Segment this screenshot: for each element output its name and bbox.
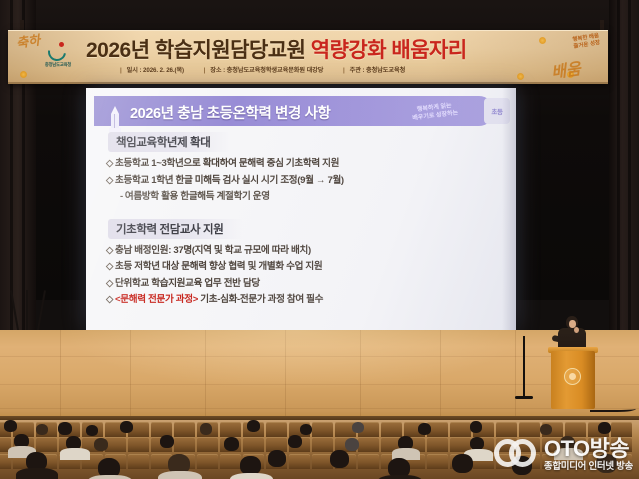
bullet-text: 충남 배정인원: 37명(지역 및 학교 규모에 따라 배치) bbox=[115, 245, 311, 256]
audience-head bbox=[345, 438, 359, 451]
presenter-hand bbox=[574, 327, 579, 333]
banner-scribble-left: 축하 bbox=[15, 30, 41, 52]
slide-section-tab: 초등 bbox=[484, 98, 510, 124]
stage-curtain-right bbox=[609, 0, 639, 330]
logo-label: 충청남도교육청 bbox=[41, 62, 75, 68]
audience-head bbox=[288, 435, 302, 448]
bullet-marker: - bbox=[120, 191, 123, 202]
bullet-text: 단위학교 학습지원교육 업무 전반 담당 bbox=[115, 278, 260, 289]
banner-scribble-right: 배움 bbox=[549, 55, 582, 83]
broadcaster-watermark: OTO방송 종합미디어 인터넷 방송 bbox=[494, 438, 633, 472]
audience-head bbox=[160, 435, 174, 448]
bullet-subitem: -여름방학 활용 한글해득 계절학기 운영 bbox=[120, 188, 516, 202]
bullet-item: ◇초등학교 1~3학년으로 확대하여 문해력 중심 기초학력 지원 bbox=[106, 155, 516, 169]
banner-title: 2026년 학습지원담당교원 역량강화 배움자리 bbox=[86, 34, 467, 64]
audience-head bbox=[598, 422, 611, 434]
audience-head bbox=[36, 424, 48, 435]
banner-title-plain: 2026년 학습지원담당교원 bbox=[86, 39, 311, 62]
podium-emblem bbox=[564, 368, 581, 385]
audience-shoulders bbox=[378, 475, 422, 479]
bullet-text: 기초-심화-전문가 과정 참여 필수 bbox=[198, 294, 323, 305]
bullet-item: ◇단위학교 학습지원교육 업무 전반 담당 bbox=[106, 275, 516, 289]
bullet-item: ◇초등학교 1학년 한글 미해득 검사 실시 시기 조정(9월 → 7월) bbox=[106, 172, 516, 186]
projection-screen: 2026년 충남 초등온학력 변경 사항 행복하게 읽는 배우기로 성장하는 초… bbox=[86, 88, 516, 330]
auditorium-photo: 축하 충청남도교육청 2026년 학습지원담당교원 역량강화 배움자리 |일시 … bbox=[0, 0, 639, 479]
bullet-marker: ◇ bbox=[106, 158, 113, 169]
bullet-item: ◇충남 배정인원: 37명(지역 및 학교 규모에 따라 배치) bbox=[106, 242, 516, 256]
audience-head bbox=[86, 425, 98, 436]
banner-subtitle-place: 장소 : 충청남도교육청학생교육문화원 대강당 bbox=[210, 67, 323, 74]
audience-head bbox=[540, 424, 552, 435]
banner-subtitle: |일시 : 2026. 2. 26.(목) |장소 : 충청남도교육청학생교육문… bbox=[120, 65, 423, 74]
slide-title: 2026년 충남 초등온학력 변경 사항 bbox=[130, 102, 330, 123]
watermark-tagline: 종합미디어 인터넷 방송 bbox=[544, 462, 633, 472]
audience-head bbox=[300, 424, 312, 435]
bullet-marker: ◇ bbox=[106, 278, 113, 289]
watermark-brand: OTO방송 bbox=[544, 438, 633, 460]
audience-head bbox=[470, 421, 482, 433]
banner-title-highlight: 역량강화 배움자리 bbox=[311, 39, 467, 62]
section-heading: 기초학력 전담교사 지원 bbox=[108, 219, 243, 239]
audience-shoulders bbox=[230, 473, 273, 479]
double-ring-icon bbox=[494, 439, 538, 469]
audience-shoulders bbox=[16, 468, 58, 479]
microphone-stand bbox=[523, 336, 525, 398]
bullet-marker: ◇ bbox=[106, 245, 113, 256]
bullet-text: 여름방학 활용 한글해득 계절학기 운영 bbox=[125, 191, 270, 202]
audience-head bbox=[200, 423, 212, 435]
bullet-text-highlight: <문해력 전문가 과정> bbox=[115, 294, 198, 305]
audience-head bbox=[352, 422, 364, 433]
audience-head bbox=[418, 423, 431, 435]
audience-head bbox=[58, 422, 72, 435]
slide-hand-note: 행복하게 읽는 배우기로 성장하는 bbox=[411, 102, 458, 123]
audience-shoulders bbox=[60, 448, 90, 460]
event-banner: 축하 충청남도교육청 2026년 학습지원담당교원 역량강화 배움자리 |일시 … bbox=[8, 30, 608, 84]
audience-head bbox=[268, 450, 286, 467]
bullet-text: 초등학교 1학년 한글 미해득 검사 실시 시기 조정(9월 → 7월) bbox=[115, 175, 344, 186]
audience-head bbox=[4, 420, 17, 432]
banner-subtitle-host: 주관 : 충청남도교육청 bbox=[350, 67, 406, 74]
audience-head bbox=[330, 450, 349, 468]
bullet-text: 초등 저학년 대상 문해력 향상 협력 및 개별화 수업 지원 bbox=[115, 261, 322, 272]
audience-shoulders bbox=[158, 471, 202, 479]
pencil-icon bbox=[108, 106, 121, 133]
audience-head bbox=[452, 454, 473, 473]
bullet-marker: ◇ bbox=[106, 294, 113, 305]
bullet-marker: ◇ bbox=[106, 261, 113, 272]
bullet-item: ◇초등 저학년 대상 문해력 향상 협력 및 개별화 수업 지원 bbox=[106, 258, 516, 272]
audience-head bbox=[247, 420, 260, 432]
bullet-text: 초등학교 1~3학년으로 확대하여 문해력 중심 기초학력 지원 bbox=[115, 158, 339, 169]
audience-head bbox=[94, 438, 108, 451]
audience-head bbox=[224, 437, 239, 451]
audience-shoulders bbox=[88, 475, 132, 479]
slide-header-bar: 2026년 충남 초등온학력 변경 사항 행복하게 읽는 배우기로 성장하는 bbox=[94, 96, 494, 126]
banner-subtitle-date: 일시 : 2026. 2. 26.(목) bbox=[127, 67, 184, 74]
bullet-marker: ◇ bbox=[106, 175, 113, 186]
bullet-item-emphasis: ◇<문해력 전문가 과정> 기초-심화-전문가 과정 참여 필수 bbox=[106, 291, 516, 305]
section-heading: 책임교육학년제 확대 bbox=[108, 132, 230, 152]
microphone-stand-base bbox=[515, 396, 533, 399]
province-education-office-logo: 충청남도교육청 bbox=[41, 41, 75, 75]
audience-head bbox=[120, 421, 133, 433]
slide-content: 책임교육학년제 확대 ◇초등학교 1~3학년으로 확대하여 문해력 중심 기초학… bbox=[86, 132, 516, 308]
stage-floor bbox=[0, 330, 639, 422]
floor-cable bbox=[590, 404, 636, 412]
banner-hand-note: 행복한 배움즐거운 성장 bbox=[572, 33, 601, 51]
